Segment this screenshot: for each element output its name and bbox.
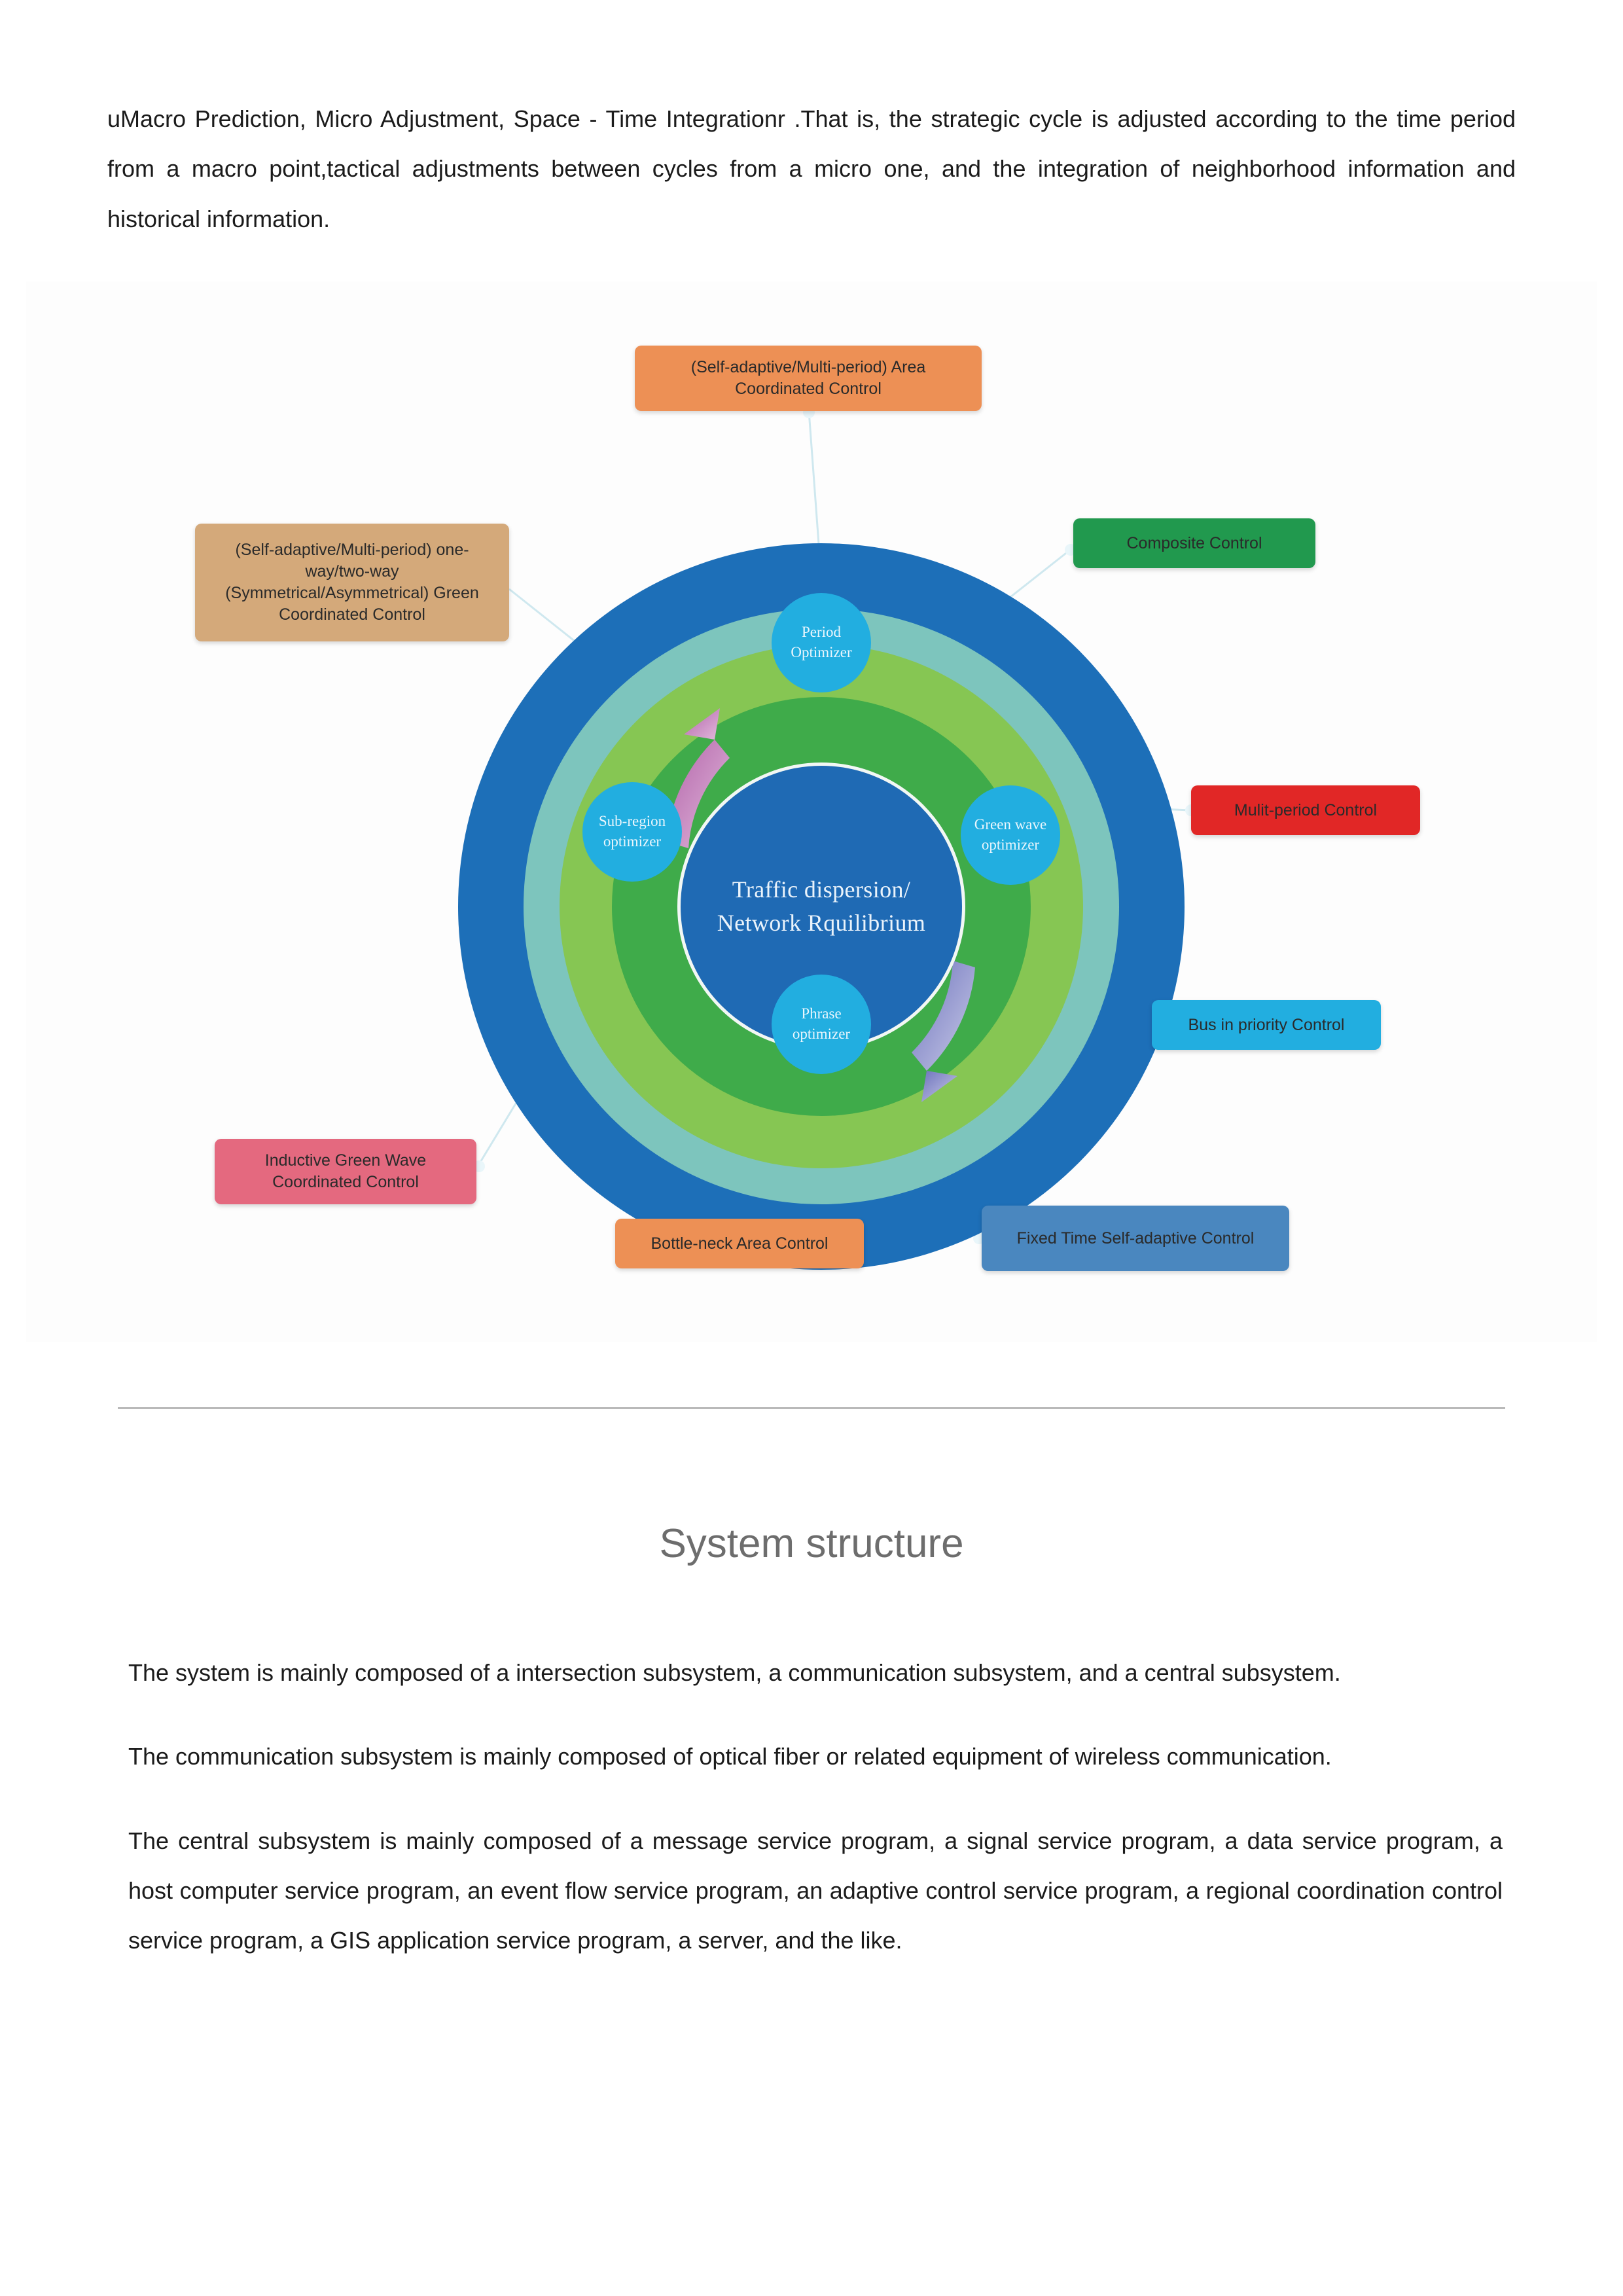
optimizer-phrase-line1: Phrase (801, 1004, 841, 1024)
body-paragraph-3: The central subsystem is mainly composed… (128, 1816, 1503, 1966)
callout-inductive-green-wave[interactable]: Inductive Green Wave Coordinated Control (215, 1139, 476, 1204)
intro-paragraph: uMacro Prediction, Micro Adjustment, Spa… (107, 94, 1516, 244)
section-divider (118, 1407, 1505, 1409)
body-text: The system is mainly composed of a inter… (128, 1648, 1503, 1966)
optimizer-sub-region-line1: Sub-region (599, 812, 666, 832)
optimizer-phrase-line2: optimizer (793, 1024, 850, 1045)
callout-green-coordinated-control[interactable]: (Self-adaptive/Multi-period) one-way/two… (195, 524, 509, 641)
arrow-top-left-head-icon (684, 708, 720, 740)
document-page: uMacro Prediction, Micro Adjustment, Spa… (0, 0, 1623, 2296)
optimizer-green-wave-line1: Green wave (974, 815, 1046, 835)
traffic-control-wheel-figure: Traffic dispersion/ Network Rquilibrium … (26, 281, 1597, 1342)
optimizer-period-line2: Optimizer (791, 643, 851, 663)
callout-bus-priority-control[interactable]: Bus in priority Control (1152, 1000, 1381, 1050)
optimizer-period-line1: Period (802, 622, 841, 643)
callout-multi-period-control[interactable]: Mulit-period Control (1191, 785, 1420, 835)
section-title: System structure (0, 1520, 1623, 1567)
callout-bottle-neck-control[interactable]: Bottle-neck Area Control (615, 1219, 864, 1268)
concentric-wheel: Traffic dispersion/ Network Rquilibrium … (458, 543, 1185, 1270)
optimizer-green-wave[interactable]: Green wave optimizer (961, 785, 1060, 885)
optimizer-phrase[interactable]: Phrase optimizer (772, 975, 871, 1074)
callout-fixed-time-control[interactable]: Fixed Time Self-adaptive Control (982, 1206, 1289, 1271)
body-paragraph-2: The communication subsystem is mainly co… (128, 1732, 1503, 1782)
callout-composite-control[interactable]: Composite Control (1073, 518, 1315, 568)
body-paragraph-1: The system is mainly composed of a inter… (128, 1648, 1503, 1698)
optimizer-green-wave-line2: optimizer (982, 835, 1039, 855)
optimizer-sub-region-line2: optimizer (603, 832, 661, 852)
hub-label: Traffic dispersion/ Network Rquilibrium (690, 873, 952, 940)
callout-area-coordinated-control[interactable]: (Self-adaptive/Multi-period) Area Coordi… (635, 346, 982, 411)
optimizer-sub-region[interactable]: Sub-region optimizer (582, 782, 682, 882)
optimizer-period[interactable]: Period Optimizer (772, 593, 871, 692)
arrow-bottom-right-head-icon (921, 1071, 957, 1102)
